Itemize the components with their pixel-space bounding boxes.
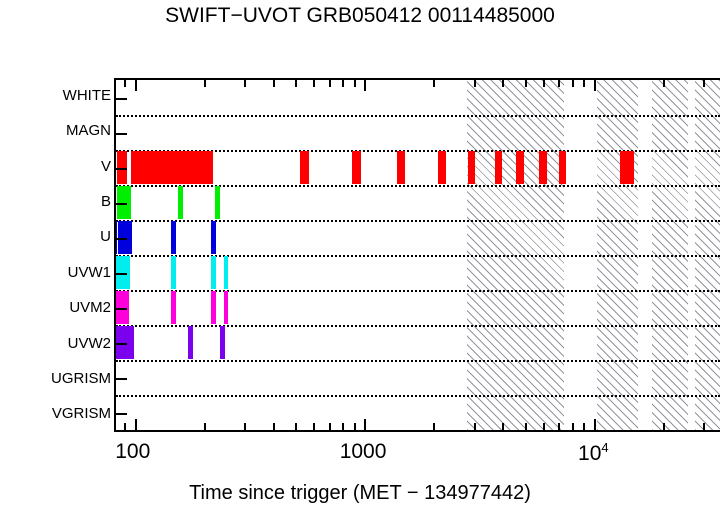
- x-minor-tick-30000-bottom: [703, 423, 705, 430]
- y-axis-labels: WHITEMAGNVBUUVW1UVM2UVW2UGRISMVGRISM: [0, 0, 111, 522]
- x-minor-tick-200-top: [204, 80, 206, 87]
- x-minor-tick-4000-top: [502, 80, 504, 87]
- bar-uvm2-10: [171, 291, 176, 324]
- x-tick-label-exponent: 4: [601, 440, 608, 455]
- y-tick-3: [116, 168, 127, 170]
- y-axis-label-v: V: [101, 160, 111, 174]
- x-minor-tick-700-top: [329, 80, 331, 87]
- x-minor-tick-300-bottom: [244, 423, 246, 430]
- x-minor-tick-9000-top: [583, 80, 585, 87]
- x-minor-tick-30000-top: [703, 80, 705, 87]
- x-minor-tick-7000-top: [558, 80, 560, 87]
- y-axis-label-b: B: [101, 195, 111, 209]
- x-minor-tick-90-top: [124, 80, 126, 87]
- bar-u-10: [171, 221, 176, 254]
- x-minor-tick-500-bottom: [295, 423, 297, 430]
- x-minor-tick-7000-bottom: [558, 423, 560, 430]
- x-minor-tick-20000-top: [663, 80, 665, 87]
- y-axis-label-uvw1: UVW1: [68, 266, 111, 280]
- row-gridline-3: [116, 185, 720, 187]
- bar-uvw2-10: [188, 326, 193, 359]
- x-minor-tick-800-bottom: [342, 423, 344, 430]
- x-major-tick-10000-top: [594, 80, 596, 91]
- bar-v-5: [397, 151, 405, 184]
- x-minor-tick-8000-bottom: [572, 423, 574, 430]
- bar-v-3: [300, 151, 309, 184]
- bar-v-8: [495, 151, 502, 184]
- bar-uvm2-12: [224, 291, 229, 324]
- bar-v-4: [352, 151, 360, 184]
- y-axis-label-magn: MAGN: [66, 124, 111, 138]
- x-tick-label-100: 100: [115, 440, 150, 464]
- x-minor-tick-2000-top: [433, 80, 435, 87]
- row-gridline-1: [116, 115, 720, 117]
- bar-uvm2-11: [211, 291, 216, 324]
- x-minor-tick-400-top: [273, 80, 275, 87]
- bar-v-12: [620, 151, 634, 184]
- row-gridline-9: [116, 395, 720, 397]
- x-major-tick-100-bottom: [135, 419, 137, 430]
- bar-v-2: [131, 151, 213, 184]
- x-tick-label-10000: 104: [578, 440, 609, 466]
- y-axis-label-white: WHITE: [63, 89, 111, 103]
- row-gridline-5: [116, 255, 720, 257]
- x-minor-tick-6000-top: [543, 80, 545, 87]
- x-major-tick-1000-bottom: [364, 419, 366, 430]
- x-minor-tick-6000-bottom: [543, 423, 545, 430]
- x-minor-tick-3000-top: [474, 80, 476, 87]
- bar-v-6: [438, 151, 446, 184]
- bar-uvw2-11: [220, 326, 225, 359]
- bar-v-10: [539, 151, 546, 184]
- bar-u-11: [211, 221, 216, 254]
- y-axis-label-ugrism: UGRISM: [51, 372, 111, 386]
- y-tick-9: [116, 378, 127, 380]
- bar-v-9: [516, 151, 523, 184]
- bar-b-10: [178, 186, 183, 219]
- bar-uvw1-6: [114, 256, 115, 289]
- x-minor-tick-9000-bottom: [583, 423, 585, 430]
- x-minor-tick-500-top: [295, 80, 297, 87]
- bar-v-7: [468, 151, 476, 184]
- bar-b-11: [215, 186, 220, 219]
- x-minor-tick-700-bottom: [329, 423, 331, 430]
- chart-root: SWIFT−UVOT GRB050412 00114485000 WHITEMA…: [0, 0, 720, 522]
- x-major-tick-100-top: [135, 80, 137, 91]
- bar-uvw1-11: [211, 256, 216, 289]
- y-tick-10: [116, 413, 127, 415]
- row-gridline-6: [116, 290, 720, 292]
- bar-uvw1-10: [171, 256, 176, 289]
- x-minor-tick-900-top: [354, 80, 356, 87]
- bar-u-9: [127, 221, 132, 254]
- x-minor-tick-800-top: [342, 80, 344, 87]
- x-minor-tick-5000-bottom: [525, 423, 527, 430]
- y-tick-2: [116, 133, 127, 135]
- plot-inner: [116, 80, 720, 430]
- plot-area: [114, 78, 720, 432]
- bar-uvw1-12: [224, 256, 229, 289]
- x-minor-tick-300-top: [244, 80, 246, 87]
- x-minor-tick-600-bottom: [313, 423, 315, 430]
- y-axis-label-uvw2: UVW2: [68, 337, 111, 351]
- x-major-tick-10000-bottom: [594, 419, 596, 430]
- y-tick-4: [116, 203, 127, 205]
- x-axis-title: Time since trigger (MET − 134977442): [0, 482, 720, 505]
- row-gridline-4: [116, 220, 720, 222]
- y-axis-label-u: U: [100, 230, 111, 244]
- x-minor-tick-20000-bottom: [663, 423, 665, 430]
- y-tick-5: [116, 238, 127, 240]
- x-minor-tick-8000-top: [572, 80, 574, 87]
- row-gridline-8: [116, 360, 720, 362]
- y-tick-7: [116, 308, 127, 310]
- y-tick-8: [116, 343, 127, 345]
- x-minor-tick-5000-top: [525, 80, 527, 87]
- x-minor-tick-200-bottom: [204, 423, 206, 430]
- x-tick-label-1000: 1000: [340, 440, 387, 464]
- row-gridline-7: [116, 325, 720, 327]
- y-tick-1: [116, 98, 127, 100]
- x-minor-tick-900-bottom: [354, 423, 356, 430]
- y-axis-label-uvm2: UVM2: [69, 301, 111, 315]
- x-minor-tick-400-bottom: [273, 423, 275, 430]
- bar-uvw2-9: [129, 326, 134, 359]
- bar-v-11: [559, 151, 566, 184]
- x-minor-tick-2000-bottom: [433, 423, 435, 430]
- x-minor-tick-90-bottom: [124, 423, 126, 430]
- x-minor-tick-4000-bottom: [502, 423, 504, 430]
- x-minor-tick-600-top: [313, 80, 315, 87]
- x-minor-tick-3000-bottom: [474, 423, 476, 430]
- y-axis-label-vgrism: VGRISM: [52, 407, 111, 421]
- y-tick-6: [116, 273, 127, 275]
- x-major-tick-1000-top: [364, 80, 366, 91]
